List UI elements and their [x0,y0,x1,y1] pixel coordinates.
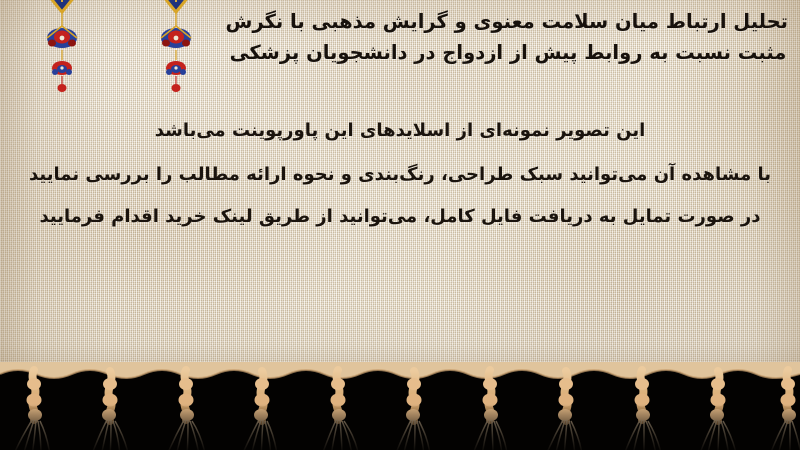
body-line-sample-notice: این تصویر نمونه‌ای از اسلایدهای این پاور… [0,108,800,154]
body-line-design-review: با مشاهده آن می‌توانید سبک طراحی، رنگ‌بن… [0,154,800,196]
carpet-fringe-illustration [0,362,800,450]
slide-title: تحلیل ارتباط میان سلامت معنوی و گرایش مذ… [228,6,788,68]
presentation-slide: تحلیل ارتباط میان سلامت معنوی و گرایش مذ… [0,0,800,450]
fringe-tassel-group [14,370,800,450]
slide-body-text: این تصویر نمونه‌ای از اسلایدهای این پاور… [0,108,800,238]
slide-title-line-2: مثبت نسبت به روابط پیش از ازدواج در دانش… [228,37,788,68]
carpet-fringe-band [0,362,800,450]
body-line-purchase-link: در صورت تمایل به دریافت فایل کامل، می‌تو… [0,196,800,238]
tazhib-medallion-ornament-right [122,0,230,118]
tazhib-medallion-ornament-left [8,0,116,118]
slide-title-line-1: تحلیل ارتباط میان سلامت معنوی و گرایش مذ… [228,6,788,37]
